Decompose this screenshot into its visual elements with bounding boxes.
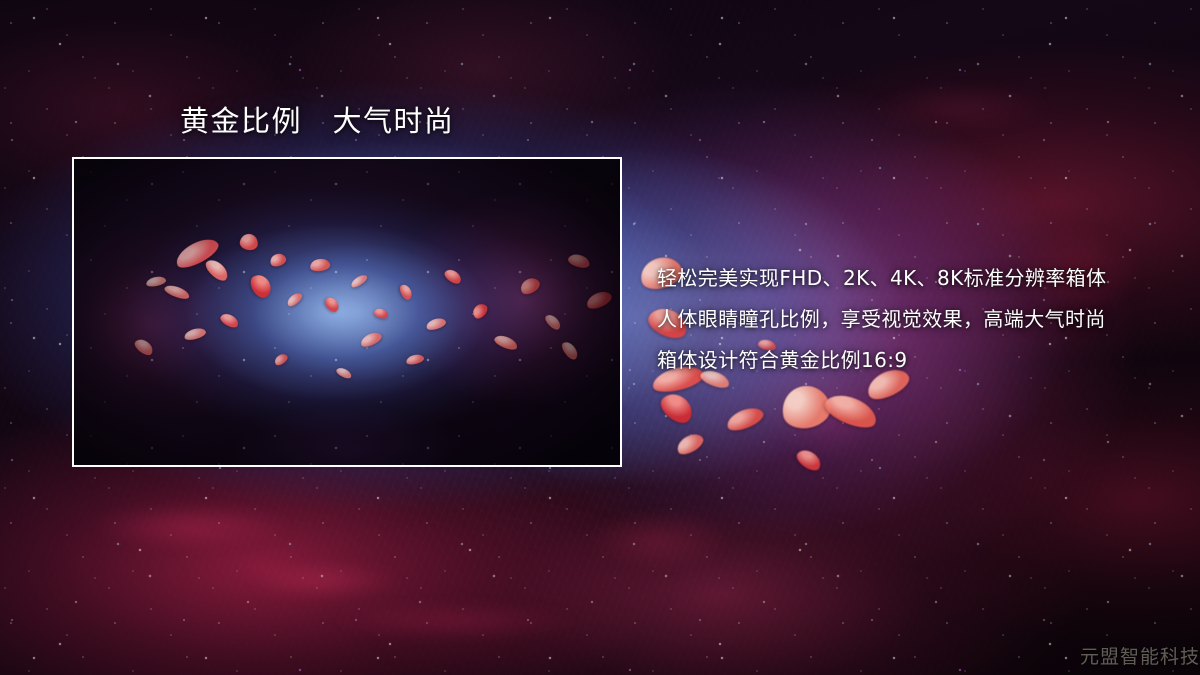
watermark: 元盟智能科技 [1080,642,1200,669]
slide-canvas: 黄金比例 大气时尚 轻松完美实现FHD、2K、4K、8K标准分辨率箱体 人体眼睛… [0,0,1200,675]
petal-shape [794,446,825,474]
description-line: 轻松完美实现FHD、2K、4K、8K标准分辨率箱体 [657,258,1177,299]
panel-vignette [74,159,620,465]
petal-shape [778,381,834,432]
petal-shape [656,388,698,428]
petal-shape [674,430,706,458]
page-title: 黄金比例 大气时尚 [180,103,455,139]
display-preview-frame[interactable] [72,157,622,467]
description-line: 人体眼睛瞳孔比例，享受视觉效果，高端大气时尚 [657,299,1177,340]
description-line: 箱体设计符合黄金比例16:9 [657,340,1177,381]
petal-shape [724,404,766,435]
petal-shape [821,389,881,433]
feature-description: 轻松完美实现FHD、2K、4K、8K标准分辨率箱体 人体眼睛瞳孔比例，享受视觉效… [657,258,1177,381]
